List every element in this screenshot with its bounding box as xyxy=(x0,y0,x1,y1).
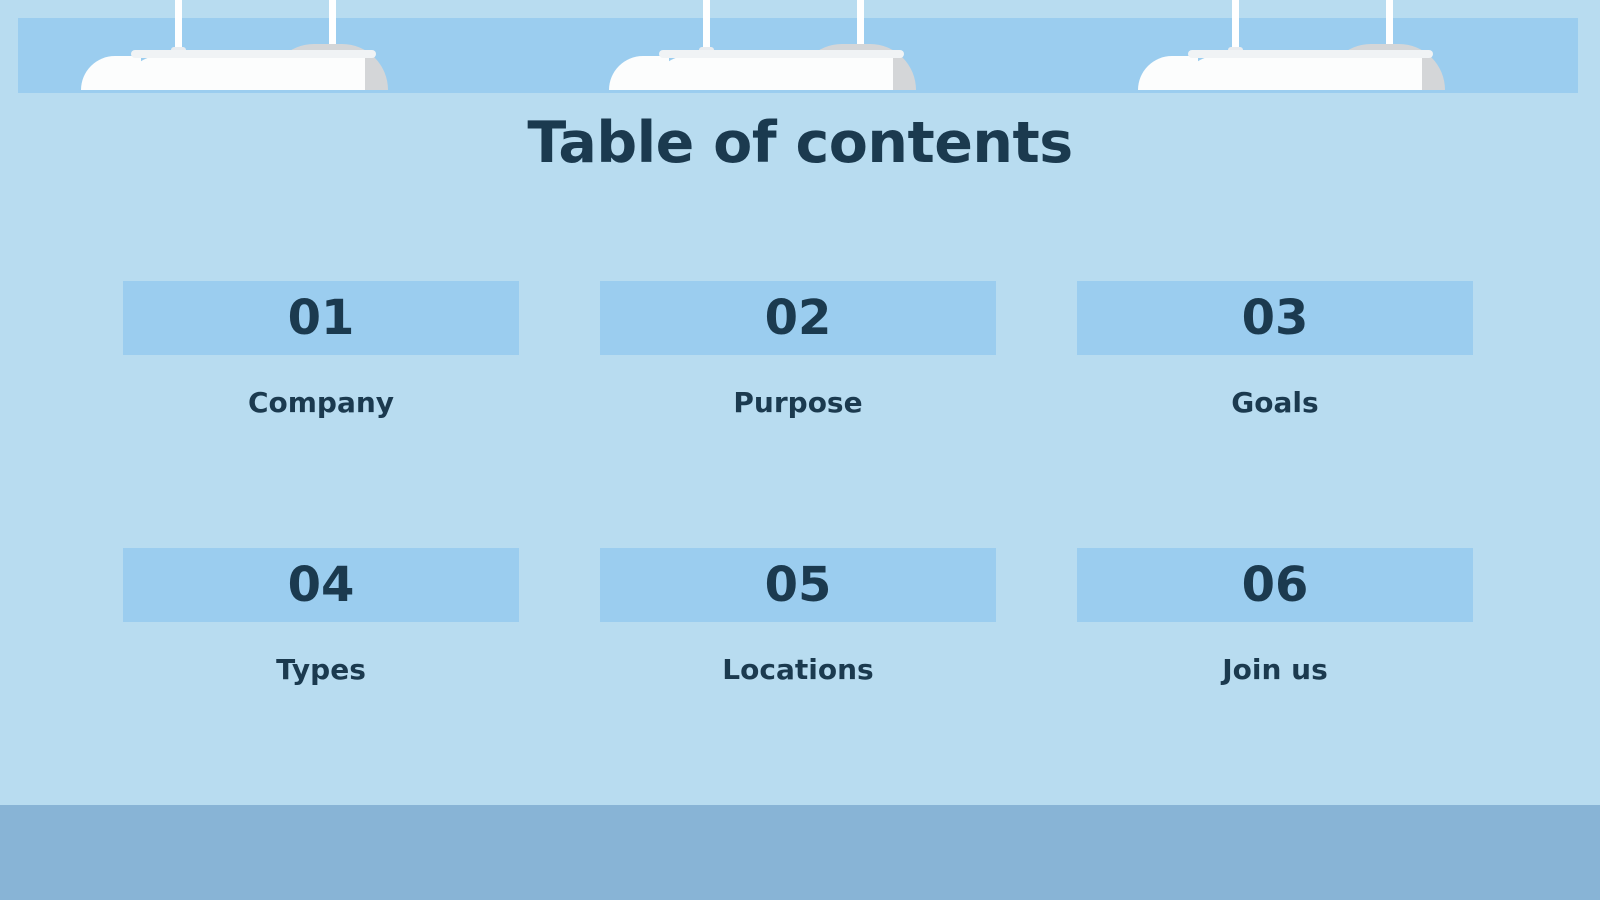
toc-number-band: 04 xyxy=(123,548,519,622)
lamp-shade-icon xyxy=(165,56,365,90)
toc-label: Goals xyxy=(1077,386,1473,420)
lamp-shade-top-icon xyxy=(131,50,376,58)
toc-item-05[interactable]: 05 Locations xyxy=(600,548,996,687)
pendant-lamp-3 xyxy=(1180,0,1445,110)
toc-item-06[interactable]: 06 Join us xyxy=(1077,548,1473,687)
toc-row-2: 04 Types 05 Locations 06 Join us xyxy=(123,548,1473,687)
toc-number-band: 05 xyxy=(600,548,996,622)
toc-number-band: 02 xyxy=(600,281,996,355)
toc-number: 06 xyxy=(1242,561,1309,609)
slide-canvas: Table of contents 01 Company 02 Purpose … xyxy=(0,0,1600,900)
toc-item-03[interactable]: 03 Goals xyxy=(1077,281,1473,420)
toc-number-band: 03 xyxy=(1077,281,1473,355)
lamp-shade-top-icon xyxy=(659,50,904,58)
pendant-lamp-2 xyxy=(651,0,916,110)
pendant-lamp-1 xyxy=(123,0,388,110)
toc-number: 05 xyxy=(765,561,832,609)
toc-label: Company xyxy=(123,386,519,420)
toc-number: 03 xyxy=(1242,294,1309,342)
toc-number-band: 01 xyxy=(123,281,519,355)
toc-item-01[interactable]: 01 Company xyxy=(123,281,519,420)
footer-strip xyxy=(0,805,1600,900)
toc-number: 01 xyxy=(288,294,355,342)
toc-item-02[interactable]: 02 Purpose xyxy=(600,281,996,420)
toc-label: Join us xyxy=(1077,653,1473,687)
lamp-shade-icon xyxy=(693,56,893,90)
toc-number: 02 xyxy=(765,294,832,342)
toc-number: 04 xyxy=(288,561,355,609)
toc-row-1: 01 Company 02 Purpose 03 Goals xyxy=(123,281,1473,420)
lamp-shade-top-icon xyxy=(1188,50,1433,58)
toc-number-band: 06 xyxy=(1077,548,1473,622)
page-title: Table of contents xyxy=(0,112,1600,175)
toc-item-04[interactable]: 04 Types xyxy=(123,548,519,687)
toc-label: Purpose xyxy=(600,386,996,420)
toc-label: Locations xyxy=(600,653,996,687)
toc-label: Types xyxy=(123,653,519,687)
table-of-contents-grid: 01 Company 02 Purpose 03 Goals 04 xyxy=(123,281,1473,686)
lamp-shade-icon xyxy=(1222,56,1422,90)
